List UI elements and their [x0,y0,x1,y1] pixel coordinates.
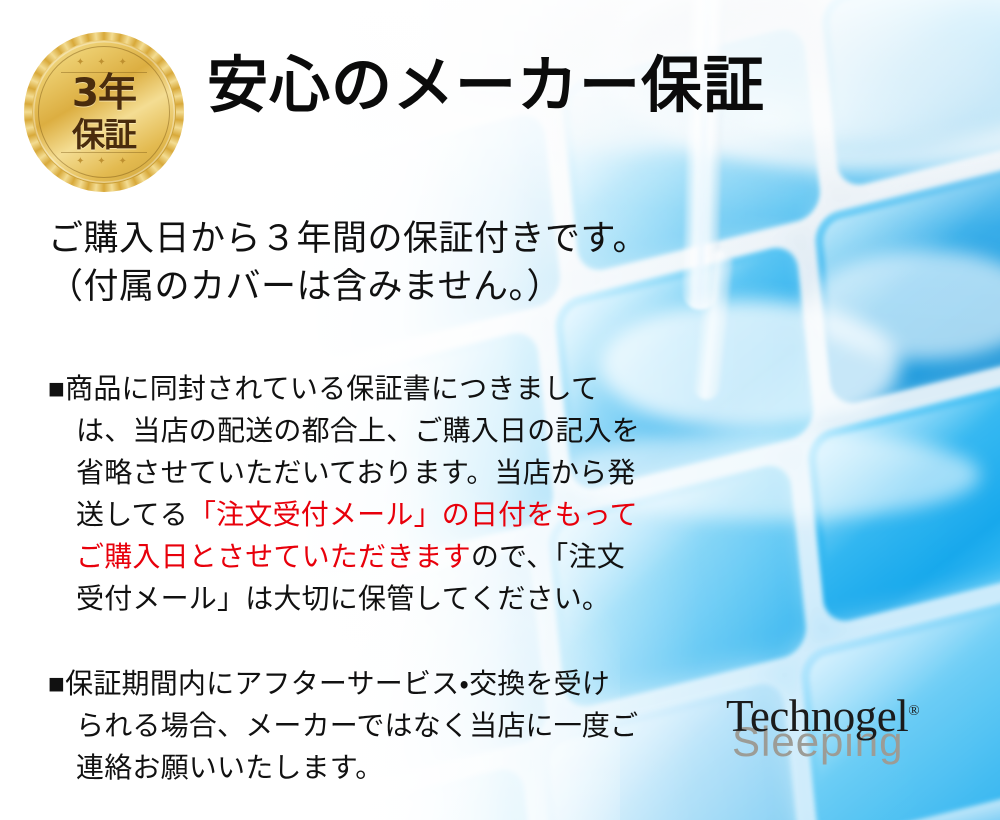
paragraph-2-line-1: ■保証期間内にアフターサービス・交換を受け [48,663,648,705]
subheading-line-2: （付属のカバーは含みません。） [48,263,648,311]
bullet-square-icon-2: ■ [48,668,65,699]
badge-stars-bottom: ✦ ✦ ✦ [76,157,132,167]
paragraph-1-line-1-text: 商品に同封されている保証書につきまして [65,373,599,404]
page-title: 安心のメーカー保証 [207,56,765,117]
paragraph-1-line-6: 受付メール」は大切に保管してください。 [48,578,648,620]
brand-name-text: Technogel [726,691,908,741]
paragraph-1-line-1: ■商品に同封されている保証書につきまして [48,368,648,410]
paragraph-1-line-5: ご購入日とさせていただきますので、「注文 [48,536,648,578]
registered-trademark-icon: ® [908,703,919,719]
paragraph-1-line-3: 省略させていただいております。当店から発 [48,452,648,494]
badge-face: ✦ ✦ ✦ 3年 保証 ✦ ✦ ✦ [24,32,184,192]
badge-warranty-label: 保証 [72,118,136,151]
paragraph-1-line-2: は、当店の配送の都合上、ご購入日の記入を [48,410,648,452]
paragraph-1-line-5-highlight: ご購入日とさせていただきます [76,541,471,572]
paragraph-1-line-4-highlight: 「注文受付メール」の日付をもって [188,499,638,530]
subheading: ご購入日から３年間の保証付きです。 （付属のカバーは含みません。） [48,215,648,312]
subheading-line-1: ご購入日から３年間の保証付きです。 [48,215,648,263]
body-text: ■商品に同封されている保証書につきまして は、当店の配送の都合上、ご購入日の記入… [48,368,648,789]
badge-years-label: 3年 [72,74,136,113]
notice-paragraph-2: ■保証期間内にアフターサービス・交換を受け られる場合、メーカーではなく当店に一… [48,663,648,789]
notice-paragraph-1: ■商品に同封されている保証書につきまして は、当店の配送の都合上、ご購入日の記入… [48,368,648,620]
brand-logo: Technogel® Sleeping [726,696,919,762]
paragraph-1-line-5-black: ので、「注文 [471,541,625,572]
brand-name: Technogel® [726,696,919,737]
paragraph-1-line-4: 送してる「注文受付メール」の日付をもって [48,494,648,536]
warranty-badge: ✦ ✦ ✦ 3年 保証 ✦ ✦ ✦ [24,32,184,192]
paragraph-2-line-3: 連絡お願いいたします。 [48,747,648,789]
paragraph-2-line-1-text: 保証期間内にアフターサービス・交換を受け [65,668,610,699]
badge-rule-bottom [61,152,147,153]
warranty-banner: ✦ ✦ ✦ 3年 保証 ✦ ✦ ✦ 安心のメーカー保証 ご購入日から３年間の保証… [0,0,1000,820]
paragraph-2-line-2: られる場合、メーカーではなく当店に一度ご [48,705,648,747]
bullet-square-icon: ■ [48,373,65,404]
paragraph-1-line-4-black: 送してる [76,499,188,530]
badge-stars-top: ✦ ✦ ✦ [76,58,132,68]
